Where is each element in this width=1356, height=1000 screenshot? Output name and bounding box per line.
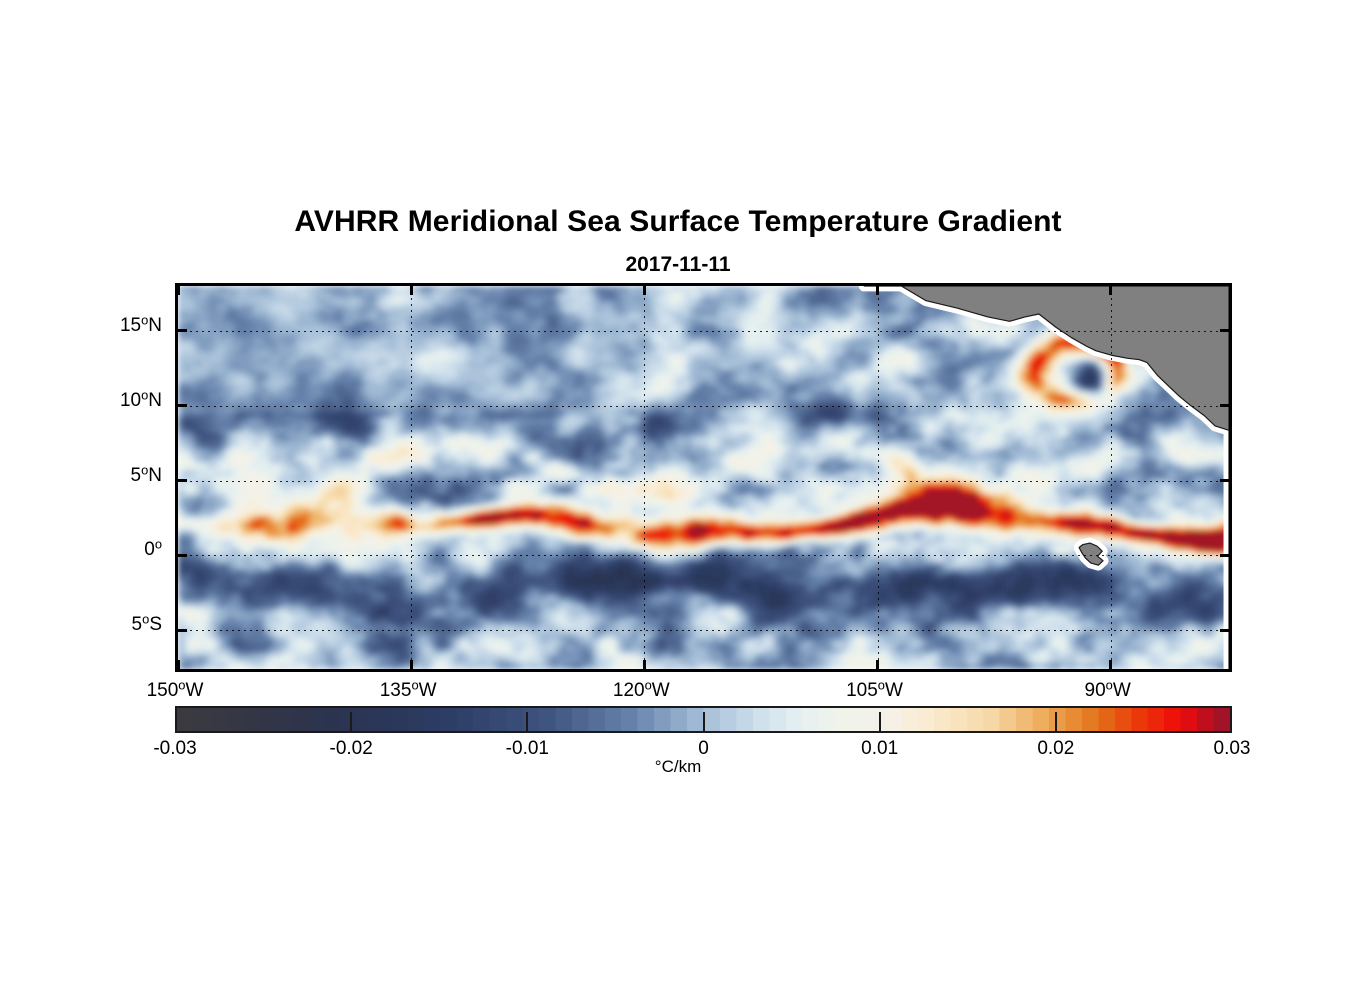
- x-tick-label: 90oW: [1038, 680, 1178, 702]
- tick-lat-left: [178, 554, 187, 557]
- gridline-lon: [878, 286, 879, 669]
- tick-lat-left: [178, 329, 187, 332]
- tick-lon-top: [643, 286, 646, 295]
- tick-lat-left: [178, 629, 187, 632]
- gridline-lat: [178, 555, 1229, 556]
- tick-lon-bottom: [876, 660, 879, 669]
- gridline-lat: [178, 406, 1229, 407]
- tick-lat-left: [178, 404, 187, 407]
- page-title: AVHRR Meridional Sea Surface Temperature…: [0, 205, 1356, 239]
- gridline-lon: [644, 286, 645, 669]
- tick-lat-right: [1220, 629, 1229, 632]
- tick-lon-bottom: [1109, 660, 1112, 669]
- gridline-lat: [178, 481, 1229, 482]
- tick-lat-right: [1220, 329, 1229, 332]
- colorbar-tick: [879, 712, 881, 733]
- y-tick-label: 5oS: [40, 614, 162, 636]
- colorbar-unit-label: °C/km: [0, 757, 1356, 777]
- tick-lat-right: [1220, 404, 1229, 407]
- tick-lon-top: [177, 286, 180, 295]
- gridline-lat: [178, 630, 1229, 631]
- colorbar-tick: [526, 712, 528, 733]
- gridline-lon: [411, 286, 412, 669]
- tick-lon-bottom: [410, 660, 413, 669]
- figure-canvas: AVHRR Meridional Sea Surface Temperature…: [0, 0, 1356, 1000]
- tick-lon-top: [876, 286, 879, 295]
- colorbar-tick: [703, 712, 705, 733]
- x-tick-label: 120oW: [571, 680, 711, 702]
- tick-lat-right: [1220, 554, 1229, 557]
- tick-lon-top: [410, 286, 413, 295]
- x-tick-label: 135oW: [338, 680, 478, 702]
- y-tick-label: 10oN: [40, 390, 162, 412]
- tick-lat-right: [1220, 479, 1229, 482]
- colorbar-tick: [350, 712, 352, 733]
- colorbar-tick: [1055, 712, 1057, 733]
- tick-lat-left: [178, 479, 187, 482]
- x-tick-label: 150oW: [105, 680, 245, 702]
- tick-lon-bottom: [643, 660, 646, 669]
- tick-lon-bottom: [177, 660, 180, 669]
- y-tick-label: 15oN: [40, 315, 162, 337]
- x-tick-label: 105oW: [804, 680, 944, 702]
- tick-lon-top: [1109, 286, 1112, 295]
- sst-gradient-field: [178, 286, 1229, 669]
- figure-subtitle: 2017-11-11: [0, 253, 1356, 277]
- y-tick-label: 0o: [40, 539, 162, 561]
- gridline-lat: [178, 331, 1229, 332]
- y-tick-label: 5oN: [40, 465, 162, 487]
- gridline-lon: [1111, 286, 1112, 669]
- map-axes[interactable]: [175, 283, 1232, 672]
